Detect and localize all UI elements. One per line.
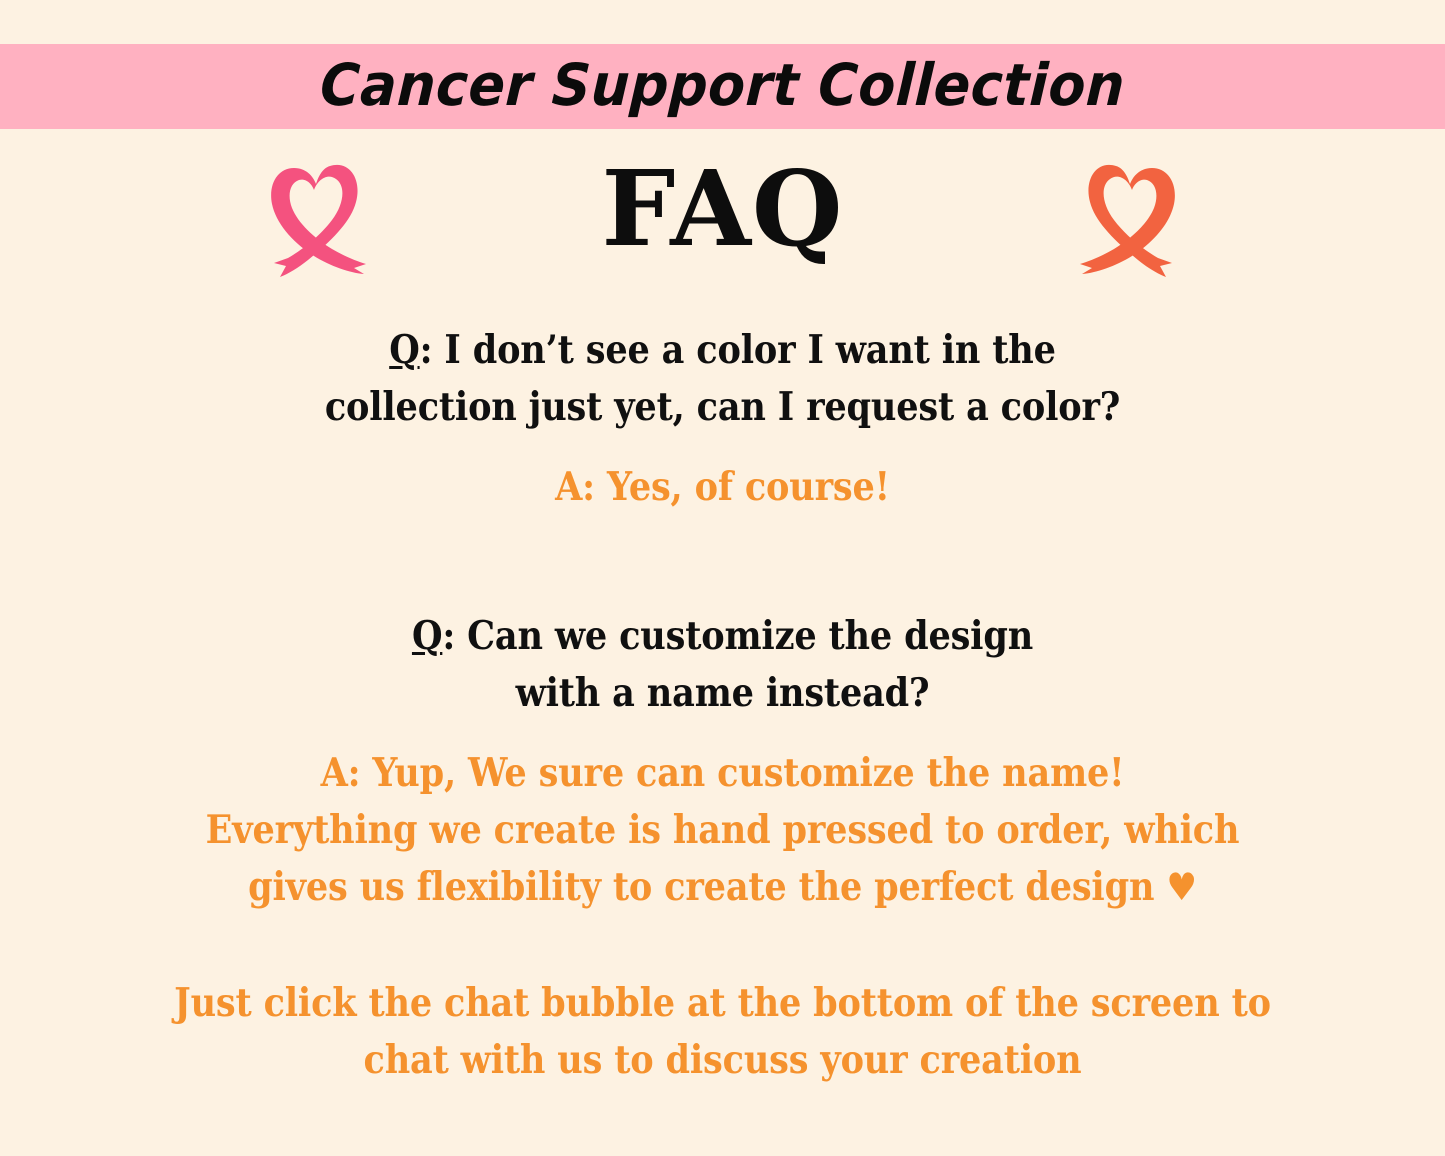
collection-title: Cancer Support Collection xyxy=(319,56,1127,118)
spacer xyxy=(0,437,1445,459)
faq-question-2: Q: Can we customize the design with a na… xyxy=(72,608,1373,723)
answer-line-2: Everything we create is hand pressed to … xyxy=(72,802,1373,859)
faq-page: Cancer Support Collection FAQ Q: I don’t… xyxy=(0,0,1445,1156)
question-prefix: Q xyxy=(412,613,442,659)
question-line-2: collection just yet, can I request a col… xyxy=(72,379,1373,436)
question-line-1: : Can we customize the design xyxy=(442,613,1033,659)
heart-icon: ♥ xyxy=(1166,864,1196,909)
spacer xyxy=(0,917,1445,975)
answer-line-1: A: Yup, We sure can customize the name! xyxy=(72,745,1373,802)
page-title: FAQ xyxy=(0,152,1445,266)
faq-content: Q: I don’t see a color I want in the col… xyxy=(0,322,1445,1089)
answer-line-1: A: Yes, of course! xyxy=(72,459,1373,516)
chat-cta-line-2: chat with us to discuss your creation xyxy=(72,1032,1373,1089)
spacer xyxy=(0,723,1445,745)
question-prefix: Q xyxy=(389,327,419,373)
header-banner: Cancer Support Collection xyxy=(0,44,1445,129)
answer-line-3: gives us flexibility to create the perfe… xyxy=(248,864,1154,910)
spacer xyxy=(0,516,1445,608)
chat-cta-text: Just click the chat bubble at the bottom… xyxy=(72,975,1373,1090)
chat-cta-line-1: Just click the chat bubble at the bottom… xyxy=(72,975,1373,1032)
faq-answer-1: A: Yes, of course! xyxy=(72,459,1373,516)
faq-answer-2: A: Yup, We sure can customize the name! … xyxy=(72,745,1373,917)
question-line-1: : I don’t see a color I want in the xyxy=(420,327,1056,373)
faq-question-1: Q: I don’t see a color I want in the col… xyxy=(72,322,1373,437)
question-line-2: with a name instead? xyxy=(72,665,1373,722)
